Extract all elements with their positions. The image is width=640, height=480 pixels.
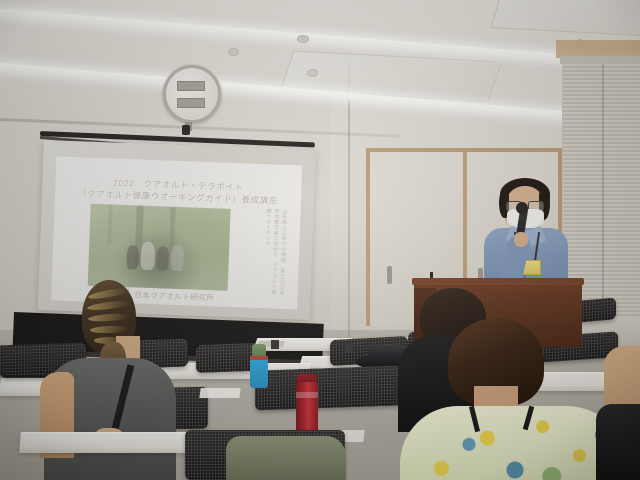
chair[interactable]	[196, 343, 258, 373]
wall-corner-seam	[348, 62, 350, 352]
presenter-hand	[514, 232, 528, 247]
screen-hook	[182, 125, 190, 135]
ceiling-sensor-icon	[297, 35, 309, 43]
water-bottle-band	[250, 356, 268, 360]
microphone-head	[516, 202, 528, 214]
desk-item	[345, 343, 353, 352]
door-handle[interactable]	[387, 266, 392, 284]
thermos-band	[296, 392, 318, 398]
green-bag	[226, 436, 346, 480]
clock-digital-display-bottom	[177, 98, 205, 108]
slide-photo	[88, 204, 231, 291]
presenter	[478, 176, 574, 288]
ceiling-sensor-icon	[228, 48, 239, 56]
ceiling-sensor-icon	[307, 69, 318, 77]
blind-cord[interactable]	[602, 60, 604, 330]
desk-item	[271, 340, 279, 349]
wall-clock	[160, 62, 220, 122]
slide-vertical-note: 山形県上山市での開催 県立山辺高校体育日本で初めて クアオルト健康ウオーキング	[259, 208, 288, 297]
chair[interactable]	[255, 365, 405, 410]
blind-headrail	[560, 56, 640, 64]
seminar-room-photo: 2022 クアオルト・テラポイト （クアオルト健康ウオーキングガイド）養成講座 …	[0, 0, 640, 480]
attendee-edge-torso	[596, 404, 640, 480]
clock-face	[163, 65, 221, 123]
paper-sheet	[199, 388, 240, 398]
clock-digital-display-top	[177, 81, 205, 91]
water-bottle-blue	[250, 358, 268, 388]
